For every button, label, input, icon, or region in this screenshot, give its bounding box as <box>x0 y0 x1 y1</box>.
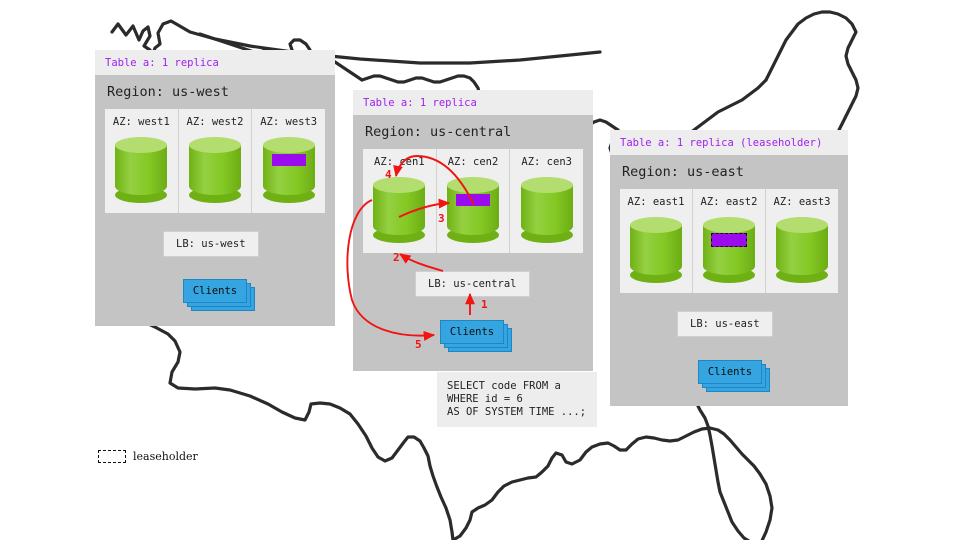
az-label-east3: AZ: east3 <box>774 196 831 208</box>
clients-us-central[interactable]: Clients <box>440 320 506 346</box>
cylinder-top <box>263 137 315 153</box>
node-cylinder-east3[interactable] <box>776 217 828 283</box>
az-label-west1: AZ: west1 <box>113 116 170 128</box>
node-cylinder-cen3[interactable] <box>521 177 573 243</box>
legend-label: leaseholder <box>133 450 198 463</box>
az-label-west2: AZ: west2 <box>187 116 244 128</box>
az-cell-west1[interactable]: AZ: west1 <box>105 109 179 213</box>
az-cell-west3[interactable]: AZ: west3 <box>252 109 325 213</box>
az-label-cen3: AZ: cen3 <box>521 156 572 168</box>
az-row-us-west: AZ: west1 AZ: west2 <box>105 109 325 213</box>
region-title-us-west: Region: us-west <box>105 75 325 109</box>
az-cell-east1[interactable]: AZ: east1 <box>620 189 693 293</box>
az-cell-cen3[interactable]: AZ: cen3 <box>510 149 583 253</box>
flow-step-number-5: 5 <box>415 338 422 351</box>
legend: leaseholder <box>98 450 198 463</box>
clients-us-west[interactable]: Clients <box>183 279 249 305</box>
node-cylinder-east1[interactable] <box>630 217 682 283</box>
clients-label-us-central: Clients <box>440 320 504 344</box>
region-title-us-east: Region: us-east <box>620 155 838 189</box>
az-label-cen1: AZ: cen1 <box>374 156 425 168</box>
az-cell-cen2[interactable]: AZ: cen2 <box>437 149 511 253</box>
az-row-us-central: AZ: cen1 AZ: cen2 <box>363 149 583 253</box>
panel-header-us-central: Table a: 1 replica <box>353 90 593 115</box>
cylinder-top <box>189 137 241 153</box>
cylinder-top <box>776 217 828 233</box>
clients-label-us-east: Clients <box>698 360 762 384</box>
az-cell-cen1[interactable]: AZ: cen1 <box>363 149 437 253</box>
node-cylinder-west2[interactable] <box>189 137 241 203</box>
az-cell-east3[interactable]: AZ: east3 <box>766 189 838 293</box>
load-balancer-us-west[interactable]: LB: us-west <box>163 231 259 257</box>
flow-step-number-1: 1 <box>481 298 488 311</box>
node-cylinder-cen1[interactable] <box>373 177 425 243</box>
leaseholder-replica-marker-east2 <box>711 233 747 247</box>
flow-step-number-2: 2 <box>393 251 400 264</box>
clients-label-us-west: Clients <box>183 279 247 303</box>
cylinder-top <box>630 217 682 233</box>
diagram-canvas: Table a: 1 replica Region: us-west AZ: w… <box>0 0 960 540</box>
flow-step-number-3: 3 <box>438 212 445 225</box>
load-balancer-us-central[interactable]: LB: us-central <box>415 271 530 297</box>
load-balancer-us-east[interactable]: LB: us-east <box>677 311 773 337</box>
leaseholder-dashed-rect-icon <box>98 450 126 463</box>
replica-marker-west3 <box>272 154 306 166</box>
az-cell-west2[interactable]: AZ: west2 <box>179 109 253 213</box>
az-cell-east2[interactable]: AZ: east2 <box>693 189 766 293</box>
sql-query-note: SELECT code FROM a WHERE id = 6 AS OF SY… <box>437 372 597 427</box>
node-cylinder-west1[interactable] <box>115 137 167 203</box>
node-cylinder-cen2[interactable] <box>447 177 499 243</box>
cylinder-top <box>447 177 499 193</box>
cylinder-top <box>703 217 755 233</box>
clients-us-east[interactable]: Clients <box>698 360 764 386</box>
az-label-west3: AZ: west3 <box>260 116 317 128</box>
replica-marker-cen2 <box>456 194 490 206</box>
az-label-cen2: AZ: cen2 <box>448 156 499 168</box>
panel-header-us-west: Table a: 1 replica <box>95 50 335 75</box>
cylinder-top <box>115 137 167 153</box>
flow-step-number-4: 4 <box>385 168 392 181</box>
region-title-us-central: Region: us-central <box>363 115 583 149</box>
az-label-east1: AZ: east1 <box>628 196 685 208</box>
cylinder-top <box>521 177 573 193</box>
node-cylinder-east2[interactable] <box>703 217 755 283</box>
node-cylinder-west3[interactable] <box>263 137 315 203</box>
az-row-us-east: AZ: east1 AZ: east2 <box>620 189 838 293</box>
cylinder-top <box>373 177 425 193</box>
az-label-east2: AZ: east2 <box>701 196 758 208</box>
panel-header-us-east: Table a: 1 replica (leaseholder) <box>610 130 848 155</box>
